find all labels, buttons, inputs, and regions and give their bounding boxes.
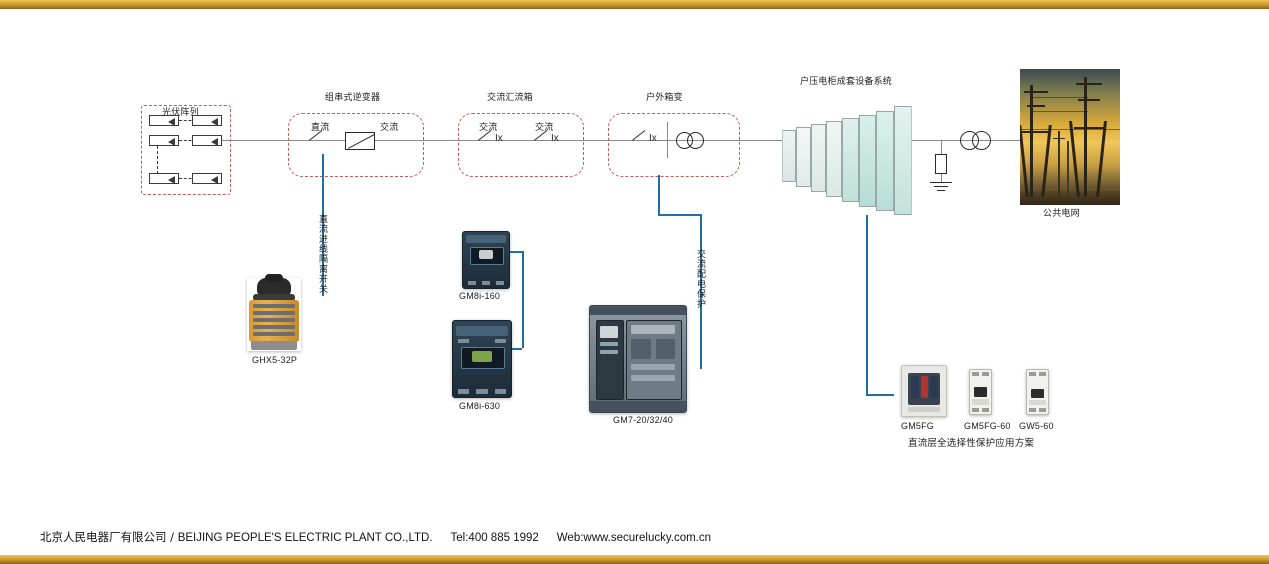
callout-line-ac-dist-h (658, 214, 702, 216)
product-image-gw5-60 (1026, 369, 1049, 415)
bottom-gold-band (0, 555, 1269, 564)
earth-bar-1 (930, 182, 952, 183)
substation-switch-symbol (632, 129, 648, 141)
grid-transformer-symbol (960, 131, 996, 150)
inverter-symbol (345, 132, 375, 150)
callout-label-dc-isolator: 直流进线隔离开关 (316, 214, 327, 294)
substation-tie-bar (667, 122, 668, 158)
callout-line-gm8i160-v (522, 251, 524, 348)
diagram-canvas: 光伏阵列 组串式逆变器 直流 交流 直流进线隔离开关 交流汇流箱 交流 交流 I… (0, 9, 1269, 555)
surge-arrester-symbol (935, 154, 947, 174)
product-label-gm5fg60: GM5FG-60 (964, 421, 1011, 432)
transformer-symbol (676, 132, 710, 150)
product-image-gm5fg (901, 365, 947, 417)
pv-module (192, 135, 222, 146)
substation-switch-mark: Ix (649, 133, 657, 144)
product-image-ghx5 (247, 278, 301, 351)
pv-module (149, 115, 179, 126)
pv-array-feeder (222, 140, 234, 141)
grid-photo-label: 公共电网 (1043, 209, 1080, 220)
pv-module (192, 173, 222, 184)
footer-bar: 北京人民电器厂有限公司 / BEIJING PEOPLE'S ELECTRIC … (40, 529, 711, 545)
callout-line-gm8i630-h (512, 348, 522, 350)
power-grid-photo (1020, 69, 1120, 205)
product-label-gw5-60: GW5-60 (1019, 421, 1054, 432)
pv-module (149, 173, 179, 184)
product-label-gm8i630: GM8i-630 (459, 401, 500, 412)
switchgear-label: 户压电柜成套设备系统 (800, 77, 892, 88)
combiner-switch-symbol-1 (478, 129, 494, 141)
footer-telephone: Tel:400 885 1992 (451, 532, 539, 544)
pv-string-tie (157, 146, 158, 174)
arrester-drop (941, 140, 942, 154)
group-label-string-inverter: 组串式逆变器 (325, 93, 380, 104)
product-image-gm8i630 (452, 320, 512, 398)
combiner-switch-symbol-2 (534, 129, 550, 141)
switchgear-lineup (782, 97, 912, 215)
group-label-ac-combiner: 交流汇流箱 (487, 93, 533, 104)
pv-module (192, 115, 222, 126)
earth-bar-2 (934, 186, 948, 187)
pv-module (149, 135, 179, 146)
combiner-switch-mark-1: Ix (495, 133, 503, 144)
callout-label-ac-distribution: 交流配电保护 (694, 249, 705, 309)
product-label-ghx5: GHX5-32P (252, 355, 297, 366)
inverter-ac-label: 交流 (380, 123, 398, 134)
product-image-gm8i160 (462, 231, 510, 289)
combiner-switch-mark-2: Ix (551, 133, 559, 144)
inverter-input-switch-symbol (309, 129, 325, 141)
solution-caption: 直流层全选择性保护应用方案 (908, 438, 1034, 449)
callout-line-ac-dist-v1 (658, 175, 660, 215)
group-ac-combiner (458, 113, 584, 177)
footer-separator: / (167, 530, 178, 544)
product-image-gm7 (589, 305, 687, 413)
top-gold-band (0, 0, 1269, 9)
footer-website[interactable]: Web:www.securelucky.com.cn (557, 532, 711, 544)
group-label-outdoor-substation: 户外箱变 (646, 93, 683, 104)
footer-company-en: BEIJING PEOPLE'S ELECTRIC PLANT CO.,LTD. (178, 532, 433, 544)
footer-company-cn: 北京人民电器厂有限公司 (40, 530, 167, 544)
product-label-gm7: GM7-20/32/40 (613, 415, 673, 426)
product-image-gm5fg60 (969, 369, 992, 415)
group-outdoor-substation (608, 113, 740, 177)
callout-line-dc-protection-h (866, 394, 894, 396)
arrester-earth-stem (941, 174, 942, 182)
callout-line-dc-protection-v (866, 215, 868, 395)
product-label-gm8i160: GM8i-160 (459, 291, 500, 302)
earth-bar-3 (937, 190, 945, 191)
product-label-gm5fg: GM5FG (901, 421, 934, 432)
